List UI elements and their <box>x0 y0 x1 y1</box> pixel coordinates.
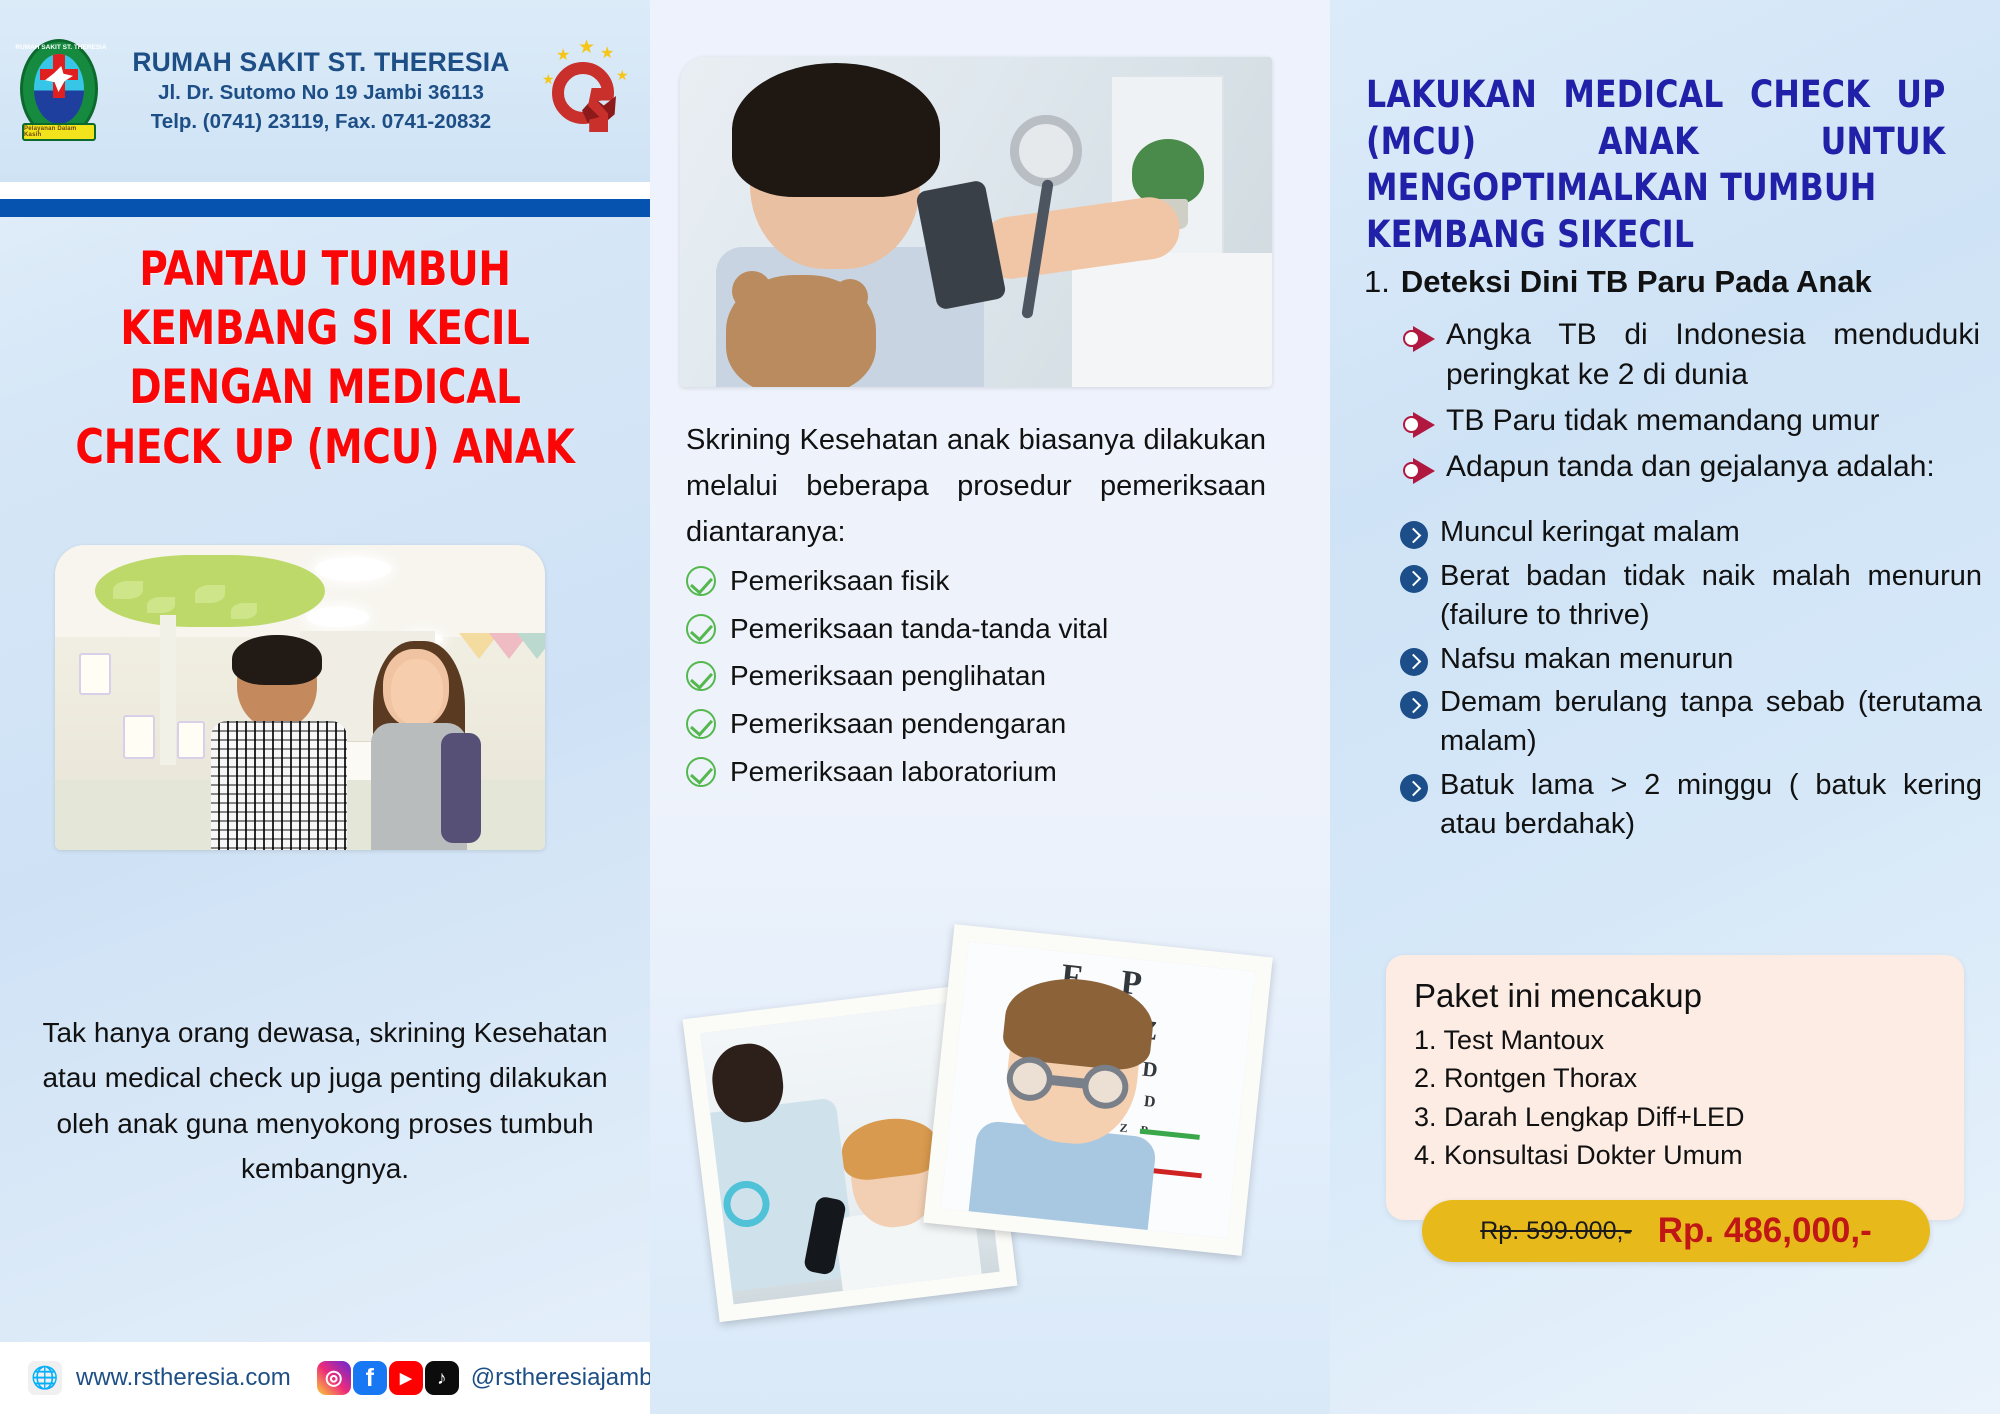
check-circle-icon <box>686 566 716 596</box>
hospital-address: Jl. Dr. Sutomo No 19 Jambi 36113 <box>110 78 532 107</box>
star-icon: ★ <box>556 48 570 64</box>
arrow-bullet-icon <box>1402 410 1436 440</box>
package-title: Paket ini mencakup <box>1414 977 1936 1015</box>
page-title: PANTAU TUMBUH KEMBANG SI KECIL DENGAN ME… <box>54 240 597 477</box>
instagram-icon[interactable]: ◎ <box>317 1361 351 1395</box>
tiktok-icon[interactable]: ♪ <box>425 1361 459 1395</box>
hospital-crest-logo: RUMAH SAKIT ST. THERESIA Pelayanan Dalam… <box>14 35 106 147</box>
middle-panel: Skrining Kesehatan anak biasanya dilakuk… <box>650 0 1330 1414</box>
symptom-label: Muncul keringat malam <box>1440 513 1982 552</box>
symptom-label: Demam berulang tanpa sebab (terutama mal… <box>1440 683 1982 761</box>
examination-checklist: Pemeriksaan fisik Pemeriksaan tanda-tand… <box>686 562 1276 800</box>
package-item: 1. Test Mantoux <box>1414 1021 1936 1059</box>
chevron-circle-icon <box>1400 648 1428 676</box>
price-banner: Rp. 599.000,- Rp. 486,000,- <box>1422 1200 1930 1262</box>
list-item: Pemeriksaan fisik <box>686 562 1276 601</box>
package-item: 2. Rontgen Thorax <box>1414 1059 1936 1097</box>
numbered-item: 1. Deteksi Dini TB Paru Pada Anak <box>1364 264 1976 300</box>
footer-bar: 🌐 www.rstheresia.com ◎ f ▶ ♪ @rstheresia… <box>0 1342 650 1414</box>
list-item: Pemeriksaan pendengaran <box>686 705 1276 744</box>
list-item: Nafsu makan menurun <box>1400 640 1982 679</box>
ceiling-light-icon <box>307 607 369 627</box>
girl-face <box>391 659 443 725</box>
item-title: Deteksi Dini TB Paru Pada Anak <box>1401 264 1872 300</box>
right-headline: LAKUKAN MEDICAL CHECK UP (MCU) ANAK UNTU… <box>1366 72 1946 258</box>
header-blue-divider <box>0 199 650 217</box>
package-item: 4. Konsultasi Dokter Umum <box>1414 1136 1936 1174</box>
list-item: Berat badan tidak naik malah menurun (fa… <box>1400 557 1982 635</box>
list-item: Muncul keringat malam <box>1400 513 1982 552</box>
checklist-label: Pemeriksaan laboratorium <box>730 753 1057 792</box>
leaf-shape <box>113 581 143 599</box>
star-icon: ★ <box>616 68 629 82</box>
chevron-circle-icon <box>1400 521 1428 549</box>
leaf-shape <box>147 597 175 613</box>
kars-accreditation-icon: ★ ★ ★ ★ ★ <box>536 36 636 146</box>
new-price: Rp. 486,000,- <box>1658 1211 1872 1251</box>
check-circle-icon <box>686 614 716 644</box>
list-item: Pemeriksaan tanda-tanda vital <box>686 610 1276 649</box>
left-panel: RUMAH SAKIT ST. THERESIA Pelayanan Dalam… <box>0 0 650 1414</box>
old-price: Rp. 599.000,- <box>1480 1217 1632 1246</box>
chevron-circle-icon <box>1400 565 1428 593</box>
list-item: Pemeriksaan laboratorium <box>686 753 1276 792</box>
facebook-icon[interactable]: f <box>353 1361 387 1395</box>
crest-text-top: RUMAH SAKIT ST. THERESIA <box>15 44 106 51</box>
plant-icon <box>1132 139 1204 205</box>
leaf-shape <box>195 585 225 603</box>
checklist-label: Pemeriksaan penglihatan <box>730 657 1046 696</box>
left-paragraph: Tak hanya orang dewasa, skrining Kesehat… <box>40 1010 610 1191</box>
arrow-bullet-icon <box>1402 456 1436 486</box>
fact-label: TB Paru tidak memandang umur <box>1446 401 1980 441</box>
brochure-poster: RUMAH SAKIT ST. THERESIA Pelayanan Dalam… <box>0 0 2000 1414</box>
boy-plaid-shirt <box>211 721 347 850</box>
doctor-coat <box>1072 253 1272 387</box>
hospital-contact: Telp. (0741) 23119, Fax. 0741-20832 <box>110 107 532 136</box>
checklist-label: Pemeriksaan pendengaran <box>730 705 1066 744</box>
teddy-bear <box>726 275 876 387</box>
stethoscope-icon <box>1010 115 1082 187</box>
list-item: Angka TB di Indonesia menduduki peringka… <box>1402 315 1980 395</box>
package-item: 3. Darah Lengkap Diff+LED <box>1414 1098 1936 1136</box>
fact-label: Adapun tanda dan gejalanya adalah: <box>1446 447 1980 487</box>
package-box: Paket ini mencakup 1. Test Mantoux 2. Ro… <box>1386 955 1964 1220</box>
hospital-name: RUMAH SAKIT ST. THERESIA <box>110 46 532 78</box>
arrow-bullet-icon <box>1402 324 1436 354</box>
item-number: 1. <box>1364 264 1390 300</box>
check-circle-icon <box>686 709 716 739</box>
wall-poster <box>123 715 155 759</box>
check-circle-icon <box>686 661 716 691</box>
list-item: Batuk lama > 2 minggu ( batuk kering ata… <box>1400 766 1982 844</box>
tree-trunk <box>160 615 176 765</box>
wall-poster <box>177 721 205 759</box>
children-clinic-photo <box>55 545 545 850</box>
social-icons-group: ◎ f ▶ ♪ <box>317 1361 459 1395</box>
hospital-header: RUMAH SAKIT ST. THERESIA Pelayanan Dalam… <box>0 0 650 182</box>
photo-inner: F P T O Z L P E D P E C F D E D F C Z P … <box>941 942 1255 1239</box>
symptom-label: Berat badan tidak naik malah menurun (fa… <box>1440 557 1982 635</box>
fact-label: Angka TB di Indonesia menduduki peringka… <box>1446 315 1980 395</box>
youtube-icon[interactable]: ▶ <box>389 1361 423 1395</box>
list-item: TB Paru tidak memandang umur <box>1402 401 1980 441</box>
symptom-label: Batuk lama > 2 minggu ( batuk kering ata… <box>1440 766 1982 844</box>
symptom-label: Nafsu makan menurun <box>1440 640 1982 679</box>
headline-line-3: KEMBANG SIKECIL <box>1366 212 1946 259</box>
girl-figure <box>355 649 479 850</box>
list-item: Demam berulang tanpa sebab (terutama mal… <box>1400 683 1982 761</box>
ceiling-light-icon <box>315 557 391 581</box>
backpack <box>441 733 481 843</box>
list-item: Adapun tanda dan gejalanya adalah: <box>1402 447 1980 487</box>
symptoms-list: Muncul keringat malam Berat badan tidak … <box>1400 513 1982 849</box>
bunting-flag <box>517 633 545 659</box>
checklist-label: Pemeriksaan fisik <box>730 562 949 601</box>
hospital-text-block: RUMAH SAKIT ST. THERESIA Jl. Dr. Sutomo … <box>106 46 536 137</box>
chevron-circle-icon <box>1400 691 1428 719</box>
lens-left <box>1005 1055 1055 1104</box>
right-panel: LAKUKAN MEDICAL CHECK UP (MCU) ANAK UNTU… <box>1330 0 2000 1414</box>
middle-paragraph: Skrining Kesehatan anak biasanya dilakuk… <box>686 418 1266 555</box>
checklist-label: Pemeriksaan tanda-tanda vital <box>730 610 1108 649</box>
list-item: Pemeriksaan penglihatan <box>686 657 1276 696</box>
lens-right <box>1080 1062 1130 1111</box>
crest-ribbon: Pelayanan Dalam Kasih <box>22 123 96 141</box>
social-handle[interactable]: @rstheresiajambi <box>471 1364 658 1392</box>
facts-list: Angka TB di Indonesia menduduki peringka… <box>1402 315 1980 493</box>
star-icon: ★ <box>578 38 595 57</box>
website-link[interactable]: www.rstheresia.com <box>76 1364 291 1392</box>
eye-test-photo-frame: F P T O Z L P E D P E C F D E D F C Z P … <box>923 924 1273 1256</box>
boy-hair <box>232 635 322 685</box>
check-circle-icon <box>686 757 716 787</box>
boy-figure <box>205 641 353 850</box>
star-icon: ★ <box>600 46 614 62</box>
globe-icon: 🌐 <box>28 1361 62 1395</box>
wall-poster <box>79 653 111 695</box>
doctor-child-photo <box>680 57 1272 387</box>
leaf-shape <box>231 603 257 619</box>
header-white-divider <box>0 182 650 199</box>
chevron-circle-icon <box>1400 774 1428 802</box>
child-hair <box>732 63 940 197</box>
